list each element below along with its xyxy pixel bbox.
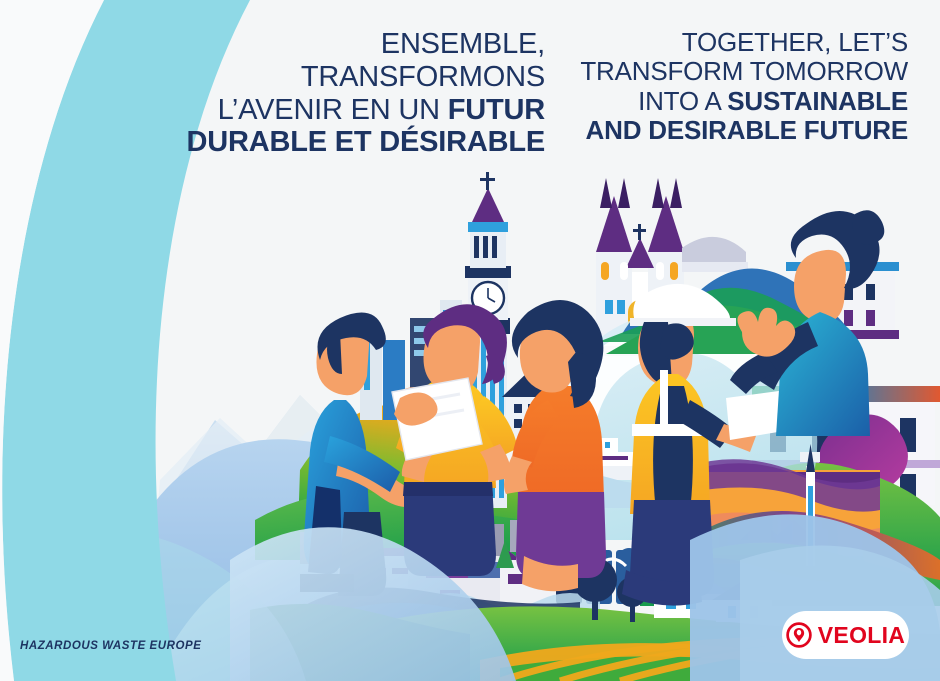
headline-french: ENSEMBLE, TRANSFORMONS L’AVENIR EN UN FU… [160, 28, 545, 159]
headline-fr-line-3: L’AVENIR EN UN FUTUR [160, 94, 545, 127]
headline-en-line-3-light: INTO A [638, 86, 727, 116]
headline-fr-line-3-bold: FUTUR [448, 94, 545, 126]
headline-en-line-3: INTO A SUSTAINABLE [560, 87, 908, 116]
headline-en-line-1: TOGETHER, LET’S [560, 28, 908, 57]
veolia-droplet-icon [786, 622, 812, 648]
headline-fr-line-1: ENSEMBLE, [160, 28, 545, 61]
poster-canvas: VEOLIA [0, 0, 940, 681]
footer-label: HAZARDOUS WASTE EUROPE [20, 640, 201, 652]
headline-fr-line-2: TRANSFORMONS [160, 61, 545, 94]
headline-fr-line-4-bold: DURABLE ET DÉSIRABLE [186, 126, 545, 158]
headline-en-line-4: AND DESIRABLE FUTURE [560, 116, 908, 145]
headline-en-line-4-bold: AND DESIRABLE FUTURE [586, 115, 908, 145]
veolia-logo: VEOLIA [782, 611, 909, 659]
headline-fr-line-3-light: L’AVENIR EN UN [218, 94, 448, 126]
headline-en-line-3-bold: SUSTAINABLE [727, 86, 908, 116]
headline-fr-line-4: DURABLE ET DÉSIRABLE [160, 126, 545, 159]
veolia-wordmark: VEOLIA [818, 624, 905, 647]
headline-en-line-2: TRANSFORM TOMORROW [560, 57, 908, 86]
headline-english: TOGETHER, LET’S TRANSFORM TOMORROW INTO … [560, 28, 908, 146]
person-woman-orange-top [504, 300, 606, 591]
